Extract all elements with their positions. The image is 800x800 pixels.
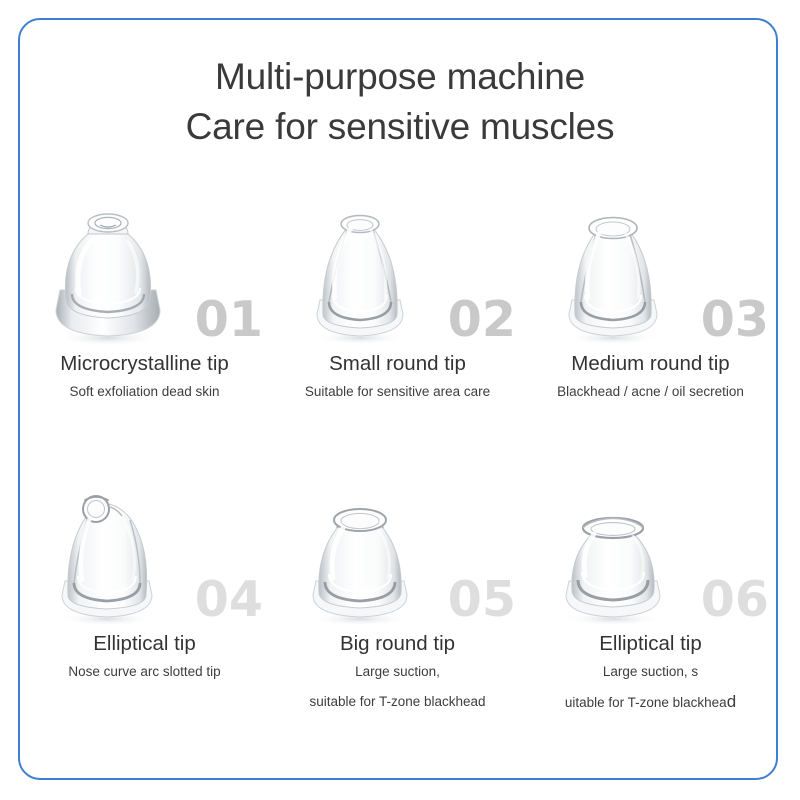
product-subtitle: Nose curve arc slotted tip: [18, 657, 271, 687]
headline-line-1: Multi-purpose machine: [0, 52, 800, 102]
product-subtitle: Soft exfoliation dead skin: [18, 377, 271, 407]
product-title: Small round tip: [271, 350, 524, 377]
product-caption: Elliptical tip Nose curve arc slotted ti…: [18, 630, 271, 687]
headline-line-2: Care for sensitive muscles: [0, 102, 800, 152]
product-subtitle-text: uitable for T-zone blackhea: [565, 695, 727, 710]
small-round-tip-icon: [285, 198, 435, 348]
product-subtitle: Large suction, s uitable for T-zone blac…: [524, 657, 777, 718]
product-row-bottom: 04 Elliptical tip Nose curve arc slotted…: [18, 468, 778, 718]
product-subtitle: Blackhead / acne / oil secretion: [524, 377, 777, 407]
product-subtitle-line: suitable for T-zone blackhead: [271, 687, 524, 717]
product-title: Big round tip: [271, 630, 524, 657]
item-number: 04: [195, 575, 263, 624]
product-infographic: Multi-purpose machine Care for sensitive…: [0, 0, 800, 800]
microcrystalline-tip-icon: [32, 198, 182, 348]
product-title: Elliptical tip: [18, 630, 271, 657]
product-stage: 05: [271, 468, 524, 628]
product-caption: Small round tip Suitable for sensitive a…: [271, 350, 524, 407]
product-caption: Microcrystalline tip Soft exfoliation de…: [18, 350, 271, 407]
product-subtitle-line: Soft exfoliation dead skin: [18, 377, 271, 407]
product-item-06[interactable]: 06 Elliptical tip Large suction, s uitab…: [524, 468, 777, 718]
product-item-03[interactable]: 03 Medium round tip Blackhead / acne / o…: [524, 188, 777, 438]
product-item-05[interactable]: 05 Big round tip Large suction, suitable…: [271, 468, 524, 718]
product-stage: 01: [18, 188, 271, 348]
elliptical-tip-icon: [538, 478, 688, 628]
product-row-top: 01 Microcrystalline tip Soft exfoliation…: [18, 188, 778, 438]
product-subtitle-line: Suitable for sensitive area care: [271, 377, 524, 407]
product-caption: Elliptical tip Large suction, s uitable …: [524, 630, 777, 718]
product-stage: 06: [524, 468, 777, 628]
product-stage: 02: [271, 188, 524, 348]
product-title: Microcrystalline tip: [18, 350, 271, 377]
product-subtitle-line: Large suction,: [271, 657, 524, 687]
product-subtitle: Suitable for sensitive area care: [271, 377, 524, 407]
item-number: 02: [448, 295, 516, 344]
product-item-02[interactable]: 02 Small round tip Suitable for sensitiv…: [271, 188, 524, 438]
item-number: 06: [701, 575, 769, 624]
elliptical-slotted-tip-icon: [32, 478, 182, 628]
product-title: Elliptical tip: [524, 630, 777, 657]
product-subtitle-line: uitable for T-zone blackhead: [524, 687, 777, 718]
product-subtitle-line: Nose curve arc slotted tip: [18, 657, 271, 687]
item-number: 01: [195, 295, 263, 344]
product-subtitle-tail: d: [727, 692, 736, 711]
product-caption: Medium round tip Blackhead / acne / oil …: [524, 350, 777, 407]
product-subtitle-line: Large suction, s: [524, 657, 777, 687]
product-stage: 04: [18, 468, 271, 628]
product-item-04[interactable]: 04 Elliptical tip Nose curve arc slotted…: [18, 468, 271, 718]
medium-round-tip-icon: [538, 198, 688, 348]
product-subtitle-line: Blackhead / acne / oil secretion: [524, 377, 777, 407]
page-title: Multi-purpose machine Care for sensitive…: [0, 52, 800, 152]
product-caption: Big round tip Large suction, suitable fo…: [271, 630, 524, 717]
product-item-01[interactable]: 01 Microcrystalline tip Soft exfoliation…: [18, 188, 271, 438]
product-subtitle: Large suction, suitable for T-zone black…: [271, 657, 524, 717]
item-number: 05: [448, 575, 516, 624]
item-number: 03: [701, 295, 769, 344]
big-round-tip-icon: [285, 478, 435, 628]
product-title: Medium round tip: [524, 350, 777, 377]
product-stage: 03: [524, 188, 777, 348]
